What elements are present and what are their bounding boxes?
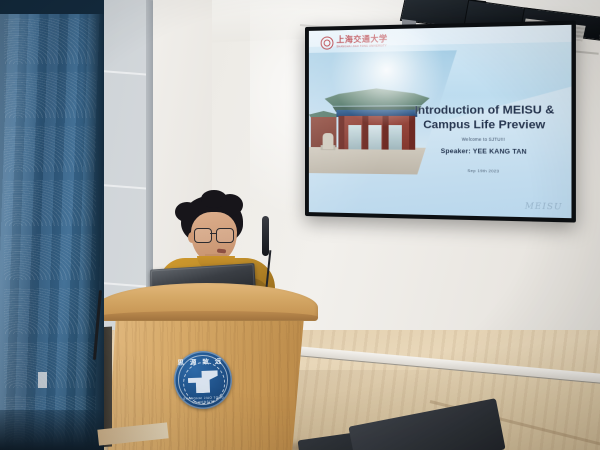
slide-title-line1: Introduction of MEISU & [405,104,565,119]
university-crest: 思源致远 SHANGHAI JIAO TONG UNIVERSITY [173,350,233,410]
curtain-rail-shadow [0,0,104,14]
wall-mounted-display[interactable]: 上海交通大学 SHANGHAI JIAO TONG UNIVERSITY Int… [305,20,576,222]
presentation-room-photo: 上海交通大学 SHANGHAI JIAO TONG UNIVERSITY Int… [0,0,600,450]
photo-stone-lion [323,133,334,149]
photo-gate-doorway [368,125,381,149]
podium-desktop-edge [96,311,318,320]
microphone-icon[interactable] [262,216,269,256]
glasses-lens [194,228,212,243]
slide-text-block: Introduction of MEISU & Campus Life Prev… [405,104,565,174]
glasses-lens [216,228,234,243]
photo-gate-doorway [389,125,402,150]
presenter-mouth [217,249,226,254]
university-seal-icon [321,36,334,49]
slide-speaker: Speaker: YEE KANG TAN [405,147,565,156]
podium: 思源致远 SHANGHAI JIAO TONG UNIVERSITY [96,283,318,450]
window-curtain[interactable] [0,0,104,450]
slide-watermark: MEISU [525,201,563,211]
curtain-highlight [0,0,40,450]
photo-gate-pillar [338,116,344,149]
glasses-icon [194,228,236,241]
slide-title-line2: Campus Life Preview [405,119,565,134]
display-screen: 上海交通大学 SHANGHAI JIAO TONG UNIVERSITY Int… [309,25,572,218]
logo-chinese-text: 上海交通大学 [336,36,387,45]
photo-gate-doorway [348,125,361,149]
curtain-hem [0,410,104,450]
curtain-fold-edge [82,0,104,450]
curtain-label-tag [38,372,47,388]
slide-university-logo: 上海交通大学 SHANGHAI JIAO TONG UNIVERSITY [321,35,388,50]
logo-english-text: SHANGHAI JIAO TONG UNIVERSITY [336,45,387,49]
presenter-hair [201,190,227,208]
slide-date: Sep 19th 2023 [405,167,565,174]
slide-subtitle: Welcome to SJTU!!! [405,136,565,142]
